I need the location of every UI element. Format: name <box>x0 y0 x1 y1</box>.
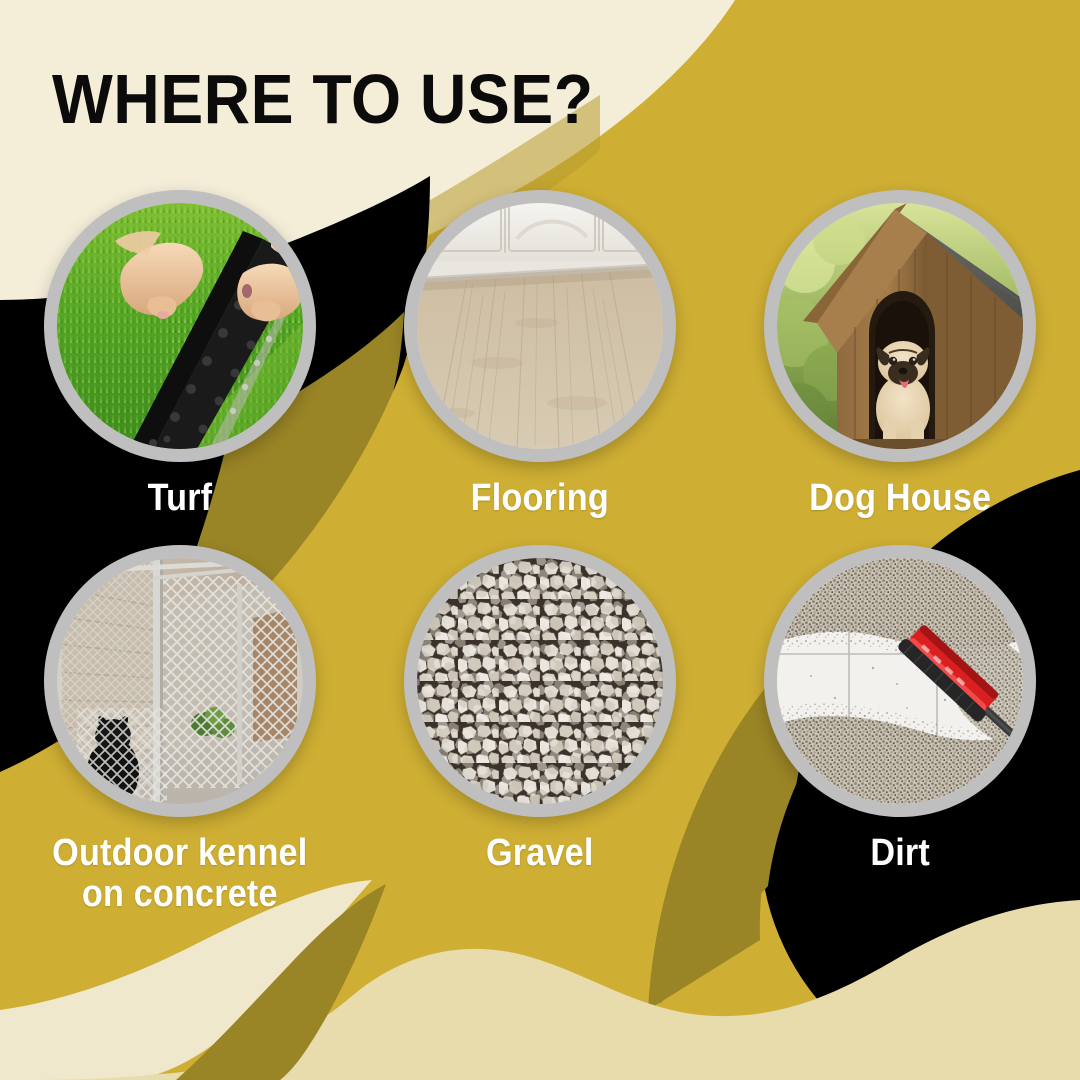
caption-gravel: Gravel <box>486 833 594 874</box>
caption-dirt: Dirt <box>870 833 930 874</box>
outdoor-kennel-photo <box>57 558 303 804</box>
page-title: WHERE TO USE? <box>52 64 594 134</box>
caption-dog-house: Dog House <box>809 478 991 519</box>
dirt-circle-wrap <box>764 545 1036 817</box>
caption-outdoor-kennel: Outdoor kennel on concrete <box>52 833 307 915</box>
turf-circle <box>44 190 316 462</box>
grid-item-gravel[interactable]: Gravel <box>360 545 720 874</box>
caption-flooring: Flooring <box>471 478 609 519</box>
dog-house-photo <box>777 203 1023 449</box>
outdoor-kennel-circle <box>44 545 316 817</box>
grid-item-flooring[interactable]: Flooring <box>360 190 720 519</box>
gravel-circle-wrap <box>404 545 676 817</box>
outdoor-kennel-circle-wrap <box>44 545 316 817</box>
turf-circle-wrap <box>44 190 316 462</box>
caption-turf: Turf <box>148 478 213 519</box>
grid-item-turf[interactable]: Turf <box>0 190 360 519</box>
turf-photo <box>57 203 303 449</box>
use-case-grid: Turf <box>0 190 1080 1000</box>
dirt-photo <box>777 558 1023 804</box>
grid-item-dirt[interactable]: Dirt <box>720 545 1080 874</box>
grid-item-dog-house[interactable]: Dog House <box>720 190 1080 519</box>
dirt-circle <box>764 545 1036 817</box>
flooring-circle-wrap <box>404 190 676 462</box>
gravel-photo <box>417 558 663 804</box>
dog-house-circle <box>764 190 1036 462</box>
flooring-photo <box>417 203 663 449</box>
dog-house-circle-wrap <box>764 190 1036 462</box>
flooring-circle <box>404 190 676 462</box>
grid-item-outdoor-kennel[interactable]: Outdoor kennel on concrete <box>0 545 360 915</box>
poster-canvas: WHERE TO USE? <box>0 0 1080 1080</box>
gravel-circle <box>404 545 676 817</box>
